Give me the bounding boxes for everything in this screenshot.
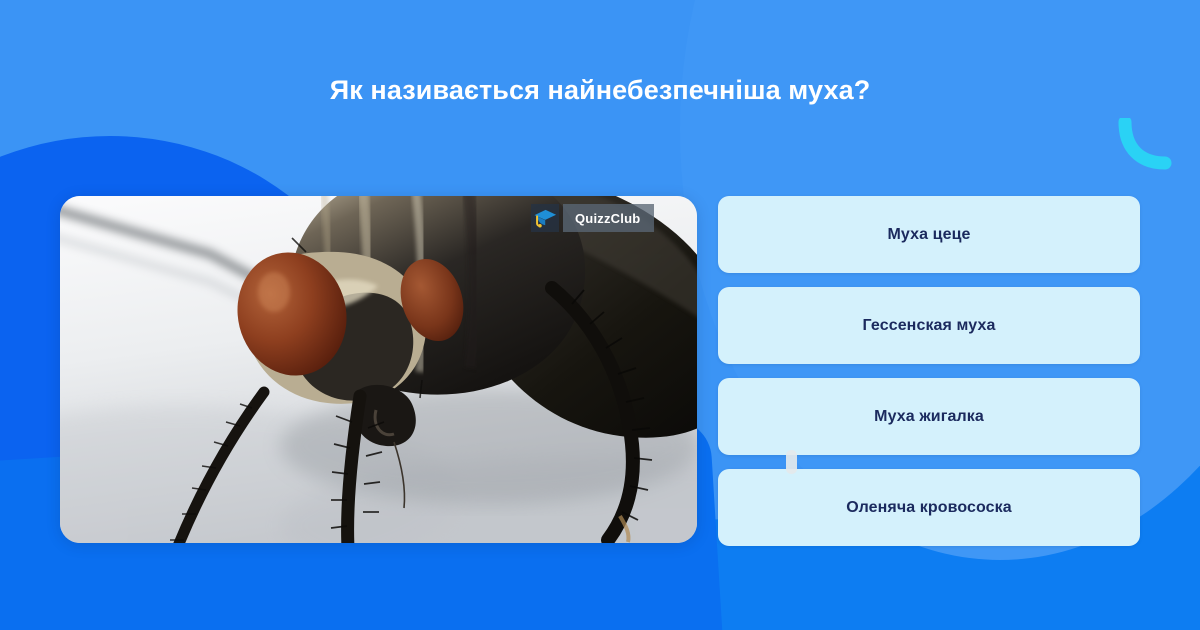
watermark-label: QuizzClub [563, 204, 654, 232]
answer-option-4[interactable]: Оленяча кровососка [718, 469, 1140, 546]
answer-option-3[interactable]: Муха жигалка [718, 378, 1140, 455]
answer-option-label: Оленяча кровососка [846, 499, 1012, 517]
answer-option-label: Гессенская муха [863, 317, 996, 335]
cyan-crescent-icon [1118, 118, 1172, 170]
question-image: QuizzClub [60, 196, 697, 543]
answer-option-1[interactable]: Муха цеце [718, 196, 1140, 273]
answer-option-label: Муха жигалка [874, 408, 984, 426]
question-title: Як називається найнебезпечніша муха? [0, 74, 1200, 106]
watermark-badge: QuizzClub [531, 204, 654, 232]
answer-option-2[interactable]: Гессенская муха [718, 287, 1140, 364]
answer-options-list: Муха цеце Гессенская муха Муха жигалка О… [718, 196, 1140, 546]
graduation-cap-icon [531, 204, 559, 232]
text-cursor-handle[interactable] [786, 450, 797, 474]
quiz-question-card: Як називається найнебезпечніша муха? [0, 0, 1200, 630]
fly-macro-photo [60, 196, 697, 543]
answer-option-label: Муха цеце [887, 226, 970, 244]
